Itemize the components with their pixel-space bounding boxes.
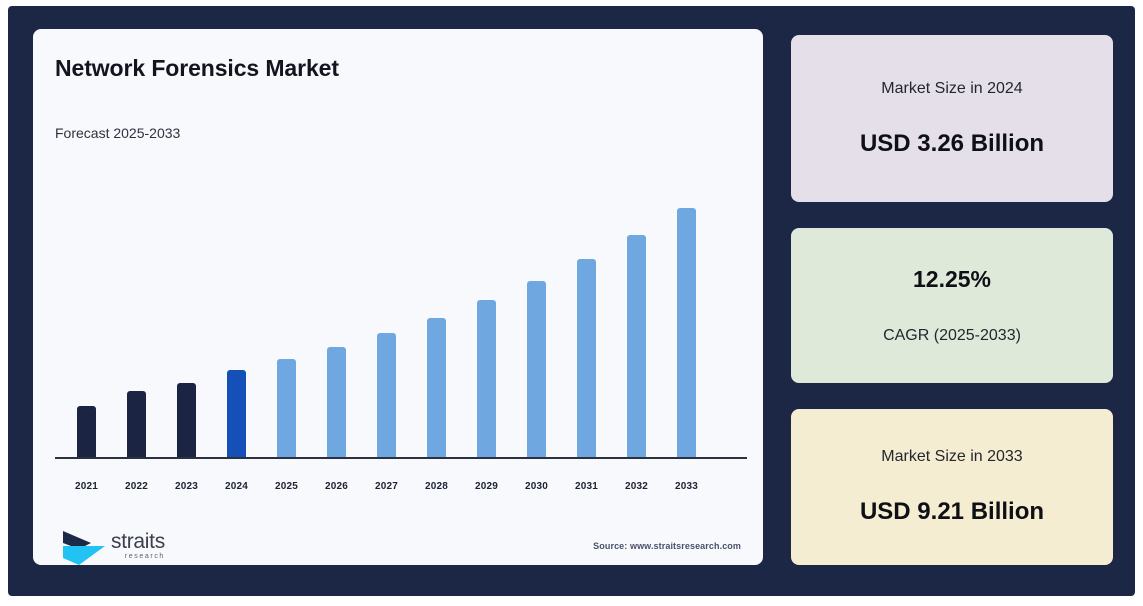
x-axis-tick-label: 2031 <box>562 481 612 492</box>
stat-card-label: Market Size in 2024 <box>881 80 1022 98</box>
bar <box>527 281 546 459</box>
straits-research-logo: straits research <box>61 527 231 569</box>
bar <box>377 333 396 459</box>
bar <box>677 208 696 459</box>
bar <box>627 235 646 459</box>
stat-card-market-size-2033: Market Size in 2033 USD 9.21 Billion <box>791 409 1113 565</box>
stat-card-value: USD 3.26 Billion <box>860 130 1044 158</box>
logo-word: straits <box>111 531 165 552</box>
source-attribution: Source: www.straitsresearch.com <box>593 541 741 551</box>
stat-card-value: USD 9.21 Billion <box>860 498 1044 526</box>
x-axis-tick-label: 2025 <box>262 481 312 492</box>
x-axis-tick-label: 2029 <box>462 481 512 492</box>
stat-card-label: CAGR (2025-2033) <box>883 327 1021 345</box>
logo-subword: research <box>111 552 165 561</box>
x-axis-tick-label: 2032 <box>612 481 662 492</box>
x-axis-tick-label: 2024 <box>212 481 262 492</box>
x-axis-tick-label: 2027 <box>362 481 412 492</box>
page-title: Network Forensics Market <box>55 55 339 82</box>
stat-card-label: Market Size in 2033 <box>881 448 1022 466</box>
bar <box>477 300 496 459</box>
x-axis-tick-label: 2023 <box>162 481 212 492</box>
infographic-container: Network Forensics Market Forecast 2025-2… <box>8 6 1135 596</box>
bar-series <box>55 169 745 459</box>
bar <box>177 383 196 459</box>
bar <box>427 318 446 459</box>
bar <box>327 347 346 459</box>
bar <box>277 359 296 459</box>
x-axis-tick-labels: 2021202220232024202520262027202820292030… <box>55 463 745 487</box>
logo-arrow-icon <box>61 529 107 567</box>
x-axis-line <box>55 457 747 459</box>
chart-panel: Network Forensics Market Forecast 2025-2… <box>33 29 763 565</box>
chart-subtitle: Forecast 2025-2033 <box>55 125 180 141</box>
stat-card-market-size-2024: Market Size in 2024 USD 3.26 Billion <box>791 35 1113 202</box>
stat-card-cagr: 12.25% CAGR (2025-2033) <box>791 228 1113 383</box>
x-axis-tick-label: 2022 <box>112 481 162 492</box>
x-axis-tick-label: 2026 <box>312 481 362 492</box>
x-axis-tick-label: 2028 <box>412 481 462 492</box>
logo-wordmark: straits research <box>111 531 165 561</box>
bar <box>77 406 96 459</box>
bar <box>127 391 146 459</box>
bar-chart-plot-area <box>55 169 745 459</box>
bar <box>227 370 246 459</box>
bar <box>577 259 596 459</box>
stat-card-value: 12.25% <box>913 266 991 293</box>
x-axis-tick-label: 2030 <box>512 481 562 492</box>
x-axis-tick-label: 2033 <box>662 481 712 492</box>
x-axis-tick-label: 2021 <box>62 481 112 492</box>
